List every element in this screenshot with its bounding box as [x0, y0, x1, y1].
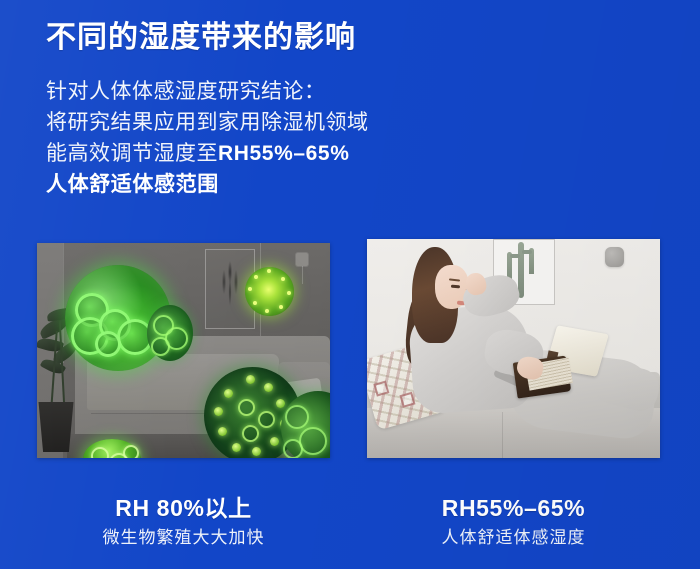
photo-comfort-humidity — [367, 239, 660, 458]
sofa-seam-light — [502, 412, 503, 458]
body-copy: 针对人体体感湿度研究结论： 将研究结果应用到家用除湿机领域 能高效调节湿度至RH… — [46, 76, 369, 200]
caption-subtitle: 人体舒适体感湿度 — [367, 527, 660, 549]
microbe-ring — [283, 439, 303, 458]
humidity-info-poster: 不同的湿度带来的影响 针对人体体感湿度研究结论： 将研究结果应用到家用除湿机领域… — [0, 0, 700, 569]
caption-subtitle: 微生物繁殖大大加快 — [37, 527, 330, 549]
body-copy-line-2: 将研究结果应用到家用除湿机领域 — [46, 107, 369, 138]
body-copy-line-4: 人体舒适体感范围 — [46, 169, 369, 200]
microbe-ring — [91, 447, 109, 458]
microbe-ring — [258, 411, 275, 428]
microbe-sphere-mid — [147, 305, 193, 361]
page-title: 不同的湿度带来的影响 — [46, 18, 356, 58]
microbe-ring — [299, 427, 327, 455]
photo-high-humidity — [37, 243, 330, 458]
dark-room-scene — [37, 243, 330, 458]
microbe-ring — [123, 445, 139, 458]
body-copy-line-3-highlight: RH55%–65% — [218, 142, 349, 165]
bright-room-scene — [367, 239, 660, 458]
wall-art-sketch — [216, 258, 244, 314]
body-copy-line-3: 能高效调节湿度至RH55%–65% — [46, 138, 369, 169]
cactus-arm — [510, 254, 520, 258]
plant-pot — [37, 402, 75, 452]
wall-thermostat-icon — [605, 247, 624, 267]
caption-comfort-humidity: RH55%–65% 人体舒适体感湿度 — [367, 494, 660, 549]
caption-high-humidity: RH 80%以上 微生物繁殖大大加快 — [37, 494, 330, 549]
microbe-sphere-small — [245, 267, 294, 316]
wall-switch-icon — [296, 253, 308, 266]
microbe-ring — [285, 405, 309, 429]
caption-title: RH 80%以上 — [37, 494, 330, 522]
photo-panels — [0, 239, 700, 464]
cactus-arm — [522, 250, 532, 254]
microbe-ring — [238, 399, 255, 416]
caption-title: RH55%–65% — [367, 494, 660, 522]
microbe-cell — [95, 331, 121, 357]
wall-switch-cord — [302, 266, 303, 284]
body-copy-line-1: 针对人体体感湿度研究结论： — [46, 76, 369, 107]
microbe-ring — [151, 337, 170, 356]
body-copy-line-3-regular: 能高效调节湿度至 — [46, 142, 218, 165]
microbe-ring — [242, 425, 259, 442]
